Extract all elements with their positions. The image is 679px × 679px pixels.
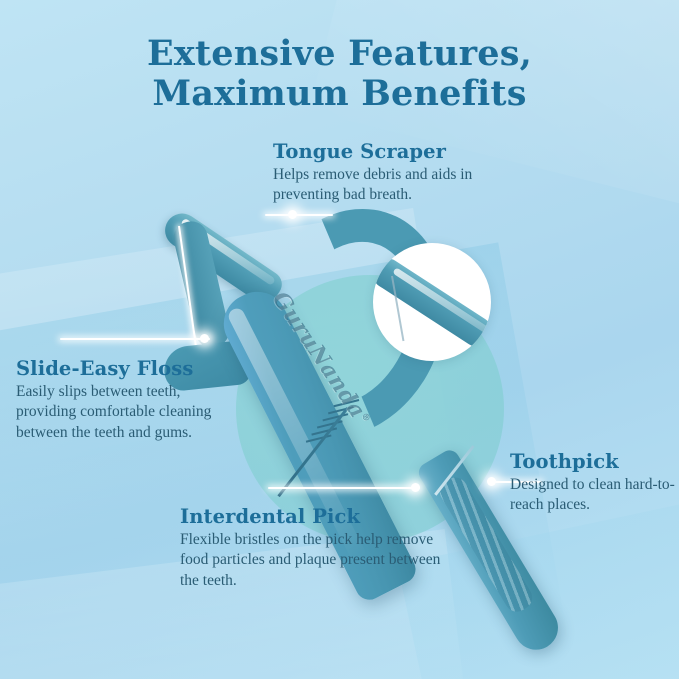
leader-line-slide-easy-floss — [60, 338, 210, 340]
tongue-scraper-magnifier-inset — [373, 243, 491, 361]
callout-slide-easy-floss: Slide-Easy Floss Easily slips between te… — [16, 357, 231, 443]
callout-heading-slide-easy-floss: Slide-Easy Floss — [16, 357, 231, 380]
leader-line-tongue-scraper — [265, 214, 333, 216]
callout-body-slide-easy-floss: Easily slips between teeth, providing co… — [16, 382, 231, 443]
callout-tongue-scraper: Tongue Scraper Helps remove debris and a… — [273, 140, 513, 206]
callout-heading-tongue-scraper: Tongue Scraper — [273, 140, 513, 163]
page-title: Extensive Features, Maximum Benefits — [0, 34, 679, 114]
callout-toothpick: Toothpick Designed to clean hard-to-reac… — [510, 450, 675, 516]
page-title-line-1: Extensive Features, — [147, 33, 532, 74]
callout-heading-toothpick: Toothpick — [510, 450, 675, 473]
magnified-scraper-blade — [373, 255, 491, 352]
callout-interdental-pick: Interdental Pick Flexible bristles on th… — [180, 505, 455, 591]
page-title-line-2: Maximum Benefits — [0, 74, 679, 114]
leader-dot-toothpick — [487, 477, 496, 486]
callout-body-toothpick: Designed to clean hard-to-reach places. — [510, 475, 675, 516]
leader-dot-tongue-scraper — [288, 210, 297, 219]
callout-heading-interdental-pick: Interdental Pick — [180, 505, 455, 528]
infographic-canvas: GuruNanda® Extensive Features, Maximum B… — [0, 0, 679, 679]
leader-dot-slide-easy-floss — [200, 334, 209, 343]
leader-dot-interdental-pick — [411, 483, 420, 492]
callout-body-tongue-scraper: Helps remove debris and aids in preventi… — [273, 165, 513, 206]
leader-line-interdental-pick — [268, 487, 420, 489]
callout-body-interdental-pick: Flexible bristles on the pick help remov… — [180, 530, 455, 591]
